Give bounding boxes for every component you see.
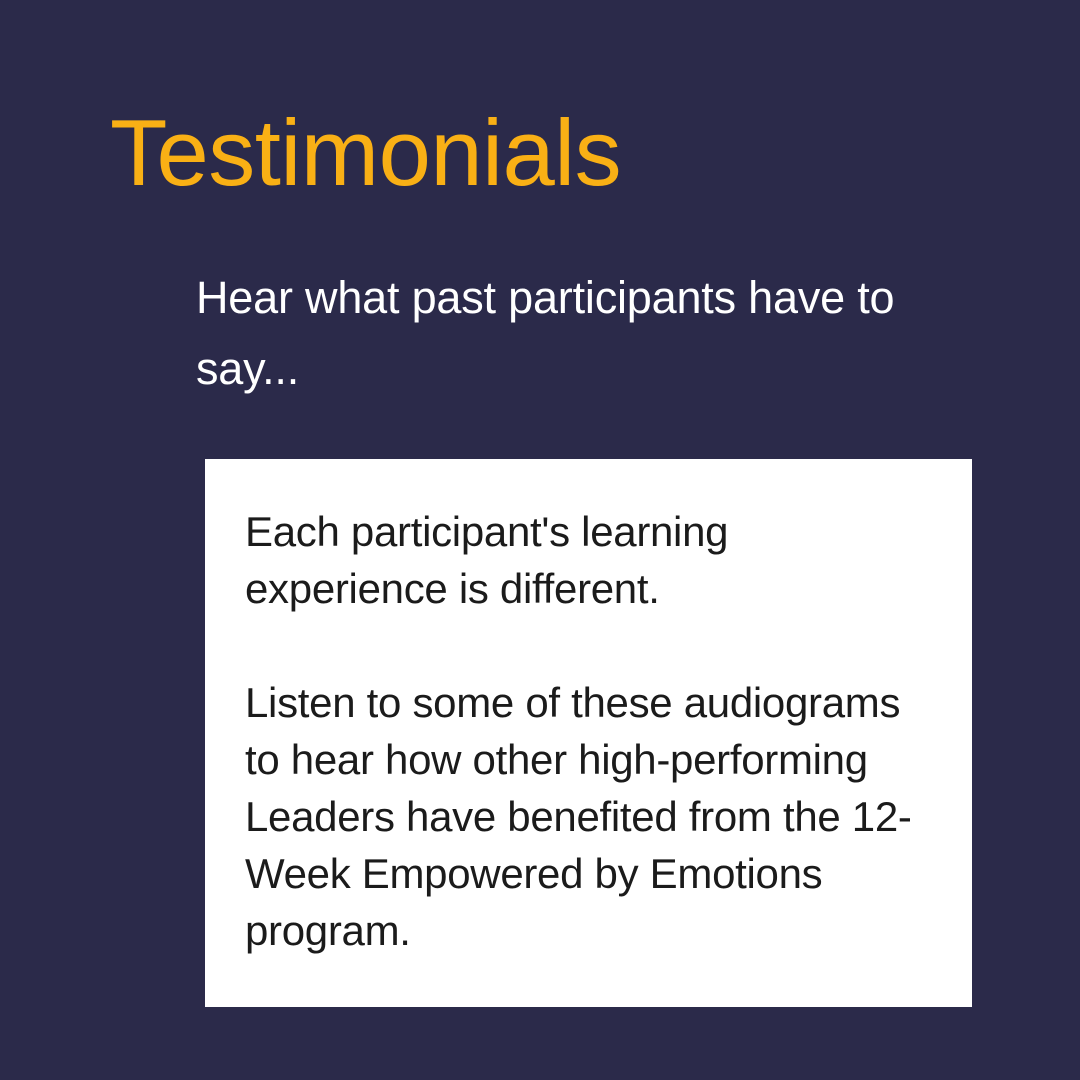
testimonials-slide: Testimonials Hear what past participants… <box>0 0 1080 1080</box>
card-paragraph-spacer <box>245 617 934 674</box>
page-title: Testimonials <box>110 106 621 200</box>
testimonial-card: Each participant's learning experience i… <box>205 459 972 1007</box>
card-paragraph-body: Listen to some of these audiograms to he… <box>245 674 934 959</box>
page-subtitle: Hear what past participants have to say.… <box>196 262 936 404</box>
card-paragraph-intro: Each participant's learning experience i… <box>245 503 934 617</box>
